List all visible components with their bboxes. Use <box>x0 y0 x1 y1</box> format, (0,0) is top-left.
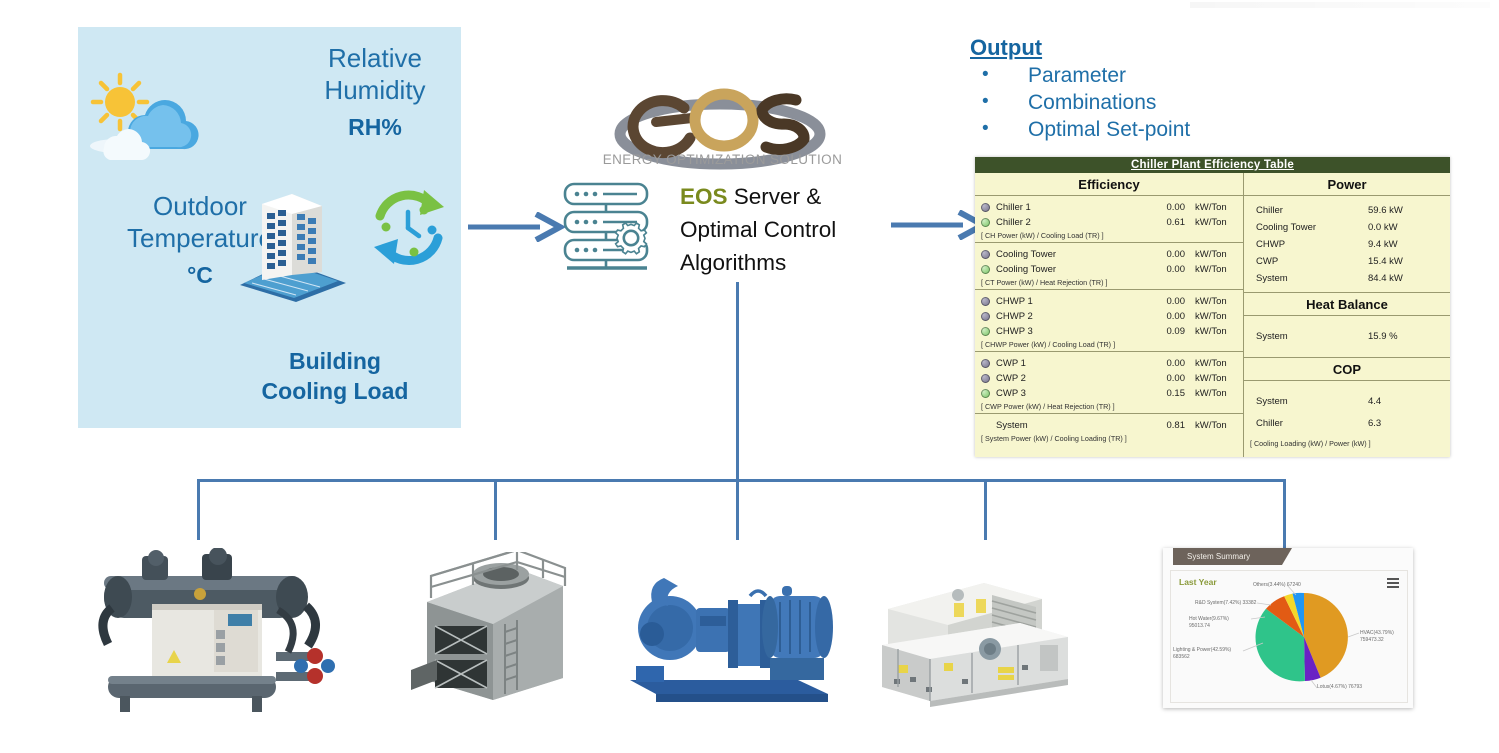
row-value: 84.4 kW <box>1368 270 1438 287</box>
row-label: Chiller <box>1256 202 1368 219</box>
status-dot-off <box>981 359 990 368</box>
row-unit: kW/Ton <box>1195 418 1237 433</box>
power-column: Power Chiller 59.6 kW Cooling Tower 0.0 … <box>1244 173 1450 457</box>
server-title-rest: Server & <box>728 184 822 209</box>
status-dot-off <box>981 203 990 212</box>
efficiency-header: Efficiency <box>975 173 1243 196</box>
heat-balance-rows: System 15.9 % <box>1244 316 1450 357</box>
table-row: Chiller 1 0.00 kW/Ton <box>975 200 1243 215</box>
air-handling-unit-photo <box>872 567 1080 707</box>
output-item-parameter: Parameter <box>978 62 1230 89</box>
row-value: 9.4 kW <box>1368 236 1438 253</box>
efficiency-column: Efficiency Chiller 1 0.00 kW/Ton Chiller… <box>975 173 1244 457</box>
cycle-clock-icon <box>362 182 452 277</box>
output-title: Output <box>970 34 1230 62</box>
row-value: 0.15 <box>1145 386 1185 401</box>
connector-drop-pump <box>736 479 739 540</box>
eos-accent-text: EOS <box>680 184 728 209</box>
row-value: 0.00 <box>1145 309 1185 324</box>
row-unit: kW/Ton <box>1195 294 1237 309</box>
row-label: CWP 1 <box>996 356 1145 371</box>
row-value: 0.00 <box>1145 247 1185 262</box>
row-unit: kW/Ton <box>1195 324 1237 339</box>
status-dot-on <box>981 218 990 227</box>
table-row: CHWP 1 0.00 kW/Ton <box>975 294 1243 309</box>
efficiency-group-cwp: CWP 1 0.00 kW/Ton CWP 2 0.00 kW/Ton CWP … <box>975 352 1243 414</box>
row-unit: kW/Ton <box>1195 356 1237 371</box>
row-unit: kW/Ton <box>1195 247 1237 262</box>
dashboard-body: Last Year <box>1170 570 1408 703</box>
table-row: Chiller 6.3 <box>1244 413 1450 435</box>
output-block: Output Parameter Combinations Optimal Se… <box>970 34 1230 143</box>
row-value: 59.6 kW <box>1368 202 1438 219</box>
row-label: CWP 3 <box>996 386 1145 401</box>
row-label: CHWP 2 <box>996 309 1145 324</box>
group-formula: [ CHWP Power (kW) / Cooling Load (TR) ] <box>975 339 1243 349</box>
status-dot-off <box>981 312 990 321</box>
row-label: Cooling Tower <box>1256 219 1368 236</box>
row-unit: kW/Ton <box>1195 200 1237 215</box>
row-label: CWP 2 <box>996 371 1145 386</box>
heat-balance-header: Heat Balance <box>1244 292 1450 316</box>
power-rows: Chiller 59.6 kW Cooling Tower 0.0 kW CHW… <box>1244 196 1450 292</box>
row-value: 0.00 <box>1145 262 1185 277</box>
arrow-server-to-table <box>889 210 989 240</box>
output-item-combinations: Combinations <box>978 89 1230 116</box>
pie-label-lotus: Lotus(4.67%) 76793 <box>1317 684 1369 691</box>
table-row: System 4.4 <box>1244 391 1450 413</box>
output-item-optimal-setpoint: Optimal Set-point <box>978 116 1230 143</box>
group-formula: [ CT Power (kW) / Heat Rejection (TR) ] <box>975 277 1243 287</box>
scan-artifact <box>1190 2 1490 8</box>
table-row: Cooling Tower 0.00 kW/Ton <box>975 247 1243 262</box>
table-title: Chiller Plant Efficiency Table <box>975 157 1450 173</box>
row-label: System <box>1256 270 1368 287</box>
row-unit: kW/Ton <box>1195 371 1237 386</box>
connector-horizontal-bus <box>197 479 1285 482</box>
table-row: CWP 1 0.00 kW/Ton <box>975 356 1243 371</box>
status-dot-on <box>981 389 990 398</box>
row-label: System <box>996 418 1145 433</box>
chiller-plant-efficiency-table: Chiller Plant Efficiency Table Efficienc… <box>975 157 1450 457</box>
pie-label-rd-system: R&D System(7.42%) 33382 <box>1195 600 1257 607</box>
table-row: Chiller 59.6 kW <box>1244 202 1450 219</box>
connector-drop-cooling-tower <box>494 479 497 540</box>
row-label: Cooling Tower <box>996 262 1145 277</box>
status-dot-on <box>981 265 990 274</box>
dashboard-panel[interactable]: System Summary Last Year <box>1163 548 1413 708</box>
row-value: 0.00 <box>1145 294 1185 309</box>
row-label: CWP <box>1256 253 1368 270</box>
table-row: CHWP 9.4 kW <box>1244 236 1450 253</box>
table-row: Cooling Tower 0.00 kW/Ton <box>975 262 1243 277</box>
table-row: CHWP 2 0.00 kW/Ton <box>975 309 1243 324</box>
row-label: Chiller <box>1256 413 1368 435</box>
table-row: CHWP 3 0.09 kW/Ton <box>975 324 1243 339</box>
group-formula: [ CH Power (kW) / Cooling Load (TR) ] <box>975 230 1243 240</box>
pump-photo <box>622 562 836 710</box>
connector-drop-ahu <box>984 479 987 540</box>
row-value: 0.0 kW <box>1368 219 1438 236</box>
server-title-line3: Algorithms <box>680 246 910 279</box>
table-row: Chiller 2 0.61 kW/Ton <box>975 215 1243 230</box>
server-title: EOS Server & Optimal Control Algorithms <box>680 180 910 279</box>
pie-label-hot-water: Hot Water(9.67%) 95013.74 <box>1189 616 1251 630</box>
table-row: CWP 15.4 kW <box>1244 253 1450 270</box>
efficiency-group-cooling-tower: Cooling Tower 0.00 kW/Ton Cooling Tower … <box>975 243 1243 290</box>
building-cooling-load-label: Building Cooling Load <box>225 346 445 406</box>
eos-tagline: ENERGY OPTIMIZATION SOLUTION <box>590 152 855 167</box>
row-label: Chiller 1 <box>996 200 1145 215</box>
cop-formula: [ Cooling Loading (kW) / Power (kW) ] <box>1244 435 1450 448</box>
row-label: Chiller 2 <box>996 215 1145 230</box>
table-row: Cooling Tower 0.0 kW <box>1244 219 1450 236</box>
row-value: 0.61 <box>1145 215 1185 230</box>
connector-drop-dashboard <box>1283 479 1286 554</box>
server-title-line2: Optimal Control <box>680 213 910 246</box>
table-row: CWP 3 0.15 kW/Ton <box>975 386 1243 401</box>
output-list: Parameter Combinations Optimal Set-point <box>970 62 1230 143</box>
table-row: System 84.4 kW <box>1244 270 1450 287</box>
table-row: System 15.9 % <box>1244 328 1450 345</box>
server-gear-icon <box>557 178 667 273</box>
dashboard-tab-label[interactable]: System Summary <box>1173 548 1282 565</box>
row-unit: kW/Ton <box>1195 309 1237 324</box>
cop-rows: System 4.4 Chiller 6.3 [ Cooling Loading… <box>1244 381 1450 453</box>
relative-humidity-label: Relative Humidity <box>270 42 480 106</box>
connector-vertical-from-server <box>736 282 739 479</box>
row-value: 6.3 <box>1368 413 1438 435</box>
power-header: Power <box>1244 173 1450 196</box>
group-formula: [ CWP Power (kW) / Heat Rejection (TR) ] <box>975 401 1243 411</box>
connector-drop-chiller <box>197 479 200 540</box>
efficiency-group-chwp: CHWP 1 0.00 kW/Ton CHWP 2 0.00 kW/Ton CH… <box>975 290 1243 352</box>
efficiency-group-system: System 0.81 kW/Ton [ System Power (kW) /… <box>975 414 1243 445</box>
table-row: CWP 2 0.00 kW/Ton <box>975 371 1243 386</box>
efficiency-group-chiller: Chiller 1 0.00 kW/Ton Chiller 2 0.61 kW/… <box>975 196 1243 243</box>
building-icon <box>226 180 356 305</box>
row-label: System <box>1256 328 1368 345</box>
status-dot-on <box>981 327 990 336</box>
row-value: 15.4 kW <box>1368 253 1438 270</box>
row-value: 0.09 <box>1145 324 1185 339</box>
row-label: Cooling Tower <box>996 247 1145 262</box>
sun-cloud-icon <box>84 70 199 160</box>
row-label: System <box>1256 391 1368 413</box>
cooling-tower-photo <box>397 552 573 710</box>
row-value: 0.81 <box>1145 418 1185 433</box>
cop-header: COP <box>1244 357 1450 381</box>
row-label: CHWP <box>1256 236 1368 253</box>
table-row: System 0.81 kW/Ton <box>975 418 1243 433</box>
status-dot-off <box>981 250 990 259</box>
row-value: 0.00 <box>1145 356 1185 371</box>
status-dot-off <box>981 297 990 306</box>
row-unit: kW/Ton <box>1195 262 1237 277</box>
group-formula: [ System Power (kW) / Cooling Loading (T… <box>975 433 1243 443</box>
pie-label-hvac: HVAC(43.79%) 759473.32 <box>1360 630 1408 644</box>
chiller-photo <box>82 548 338 714</box>
row-value: 0.00 <box>1145 200 1185 215</box>
status-dot-off <box>981 374 990 383</box>
row-unit: kW/Ton <box>1195 386 1237 401</box>
row-value: 4.4 <box>1368 391 1438 413</box>
row-label: CHWP 3 <box>996 324 1145 339</box>
row-value: 0.00 <box>1145 371 1185 386</box>
pie-label-lighting-power: Lighting & Power(42.59%) 683562 <box>1173 647 1243 661</box>
row-unit: kW/Ton <box>1195 215 1237 230</box>
arrow-input-to-server <box>466 212 566 242</box>
relative-humidity-value: RH% <box>270 114 480 141</box>
pie-label-others: Others(3.44%) 67240 <box>1253 582 1313 589</box>
row-value: 15.9 % <box>1368 328 1438 345</box>
row-label: CHWP 1 <box>996 294 1145 309</box>
